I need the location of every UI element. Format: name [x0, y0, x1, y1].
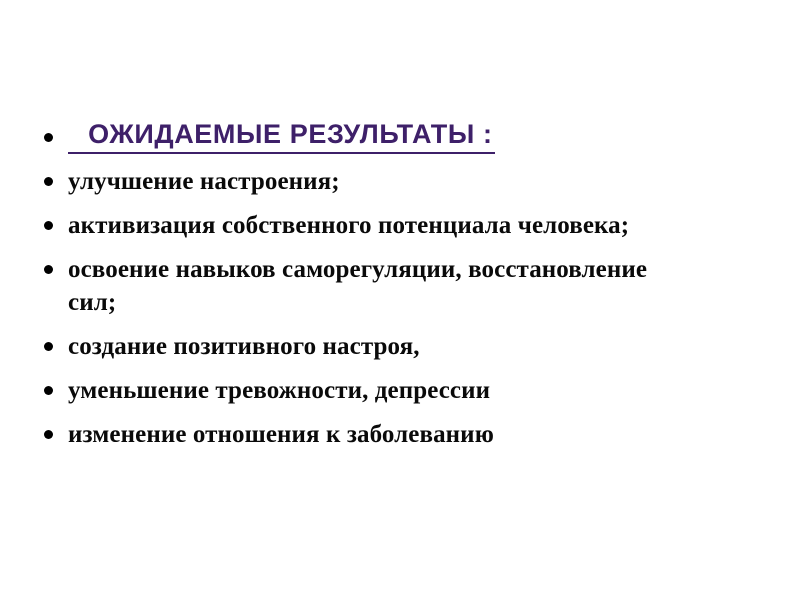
list-item-label: создание позитивного настроя, [68, 330, 668, 363]
list-item: активизация собственного потенциала чело… [0, 209, 800, 242]
slide-title: ОЖИДАЕМЫЕ РЕЗУЛЬТАТЫ : [68, 118, 495, 154]
bullet-dot-icon [44, 133, 53, 142]
list-item: освоение навыков саморегуляции, восстано… [0, 253, 800, 319]
bullet-dot-icon [44, 342, 53, 351]
bullet-list: ОЖИДАЕМЫЕ РЕЗУЛЬТАТЫ : улучшение настрое… [0, 118, 800, 451]
list-item-label: уменьшение тревожности, депрессии [68, 374, 668, 407]
bullet-dot-icon [44, 221, 53, 230]
bullet-dot-icon [44, 265, 53, 274]
list-item: уменьшение тревожности, депрессии [0, 374, 800, 407]
bullet-dot-icon [44, 430, 53, 439]
list-item-label: изменение отношения к заболеванию [68, 418, 668, 451]
list-item-label: улучшение настроения; [68, 165, 668, 198]
bullet-dot-icon [44, 177, 53, 186]
list-item: изменение отношения к заболеванию [0, 418, 800, 451]
list-item: улучшение настроения; [0, 165, 800, 198]
slide-title-item: ОЖИДАЕМЫЕ РЕЗУЛЬТАТЫ : [0, 118, 800, 154]
list-item: создание позитивного настроя, [0, 330, 800, 363]
bullet-dot-icon [44, 386, 53, 395]
list-item-label: освоение навыков саморегуляции, восстано… [68, 253, 668, 319]
slide-canvas: ОЖИДАЕМЫЕ РЕЗУЛЬТАТЫ : улучшение настрое… [0, 0, 800, 600]
list-item-label: активизация собственного потенциала чело… [68, 209, 668, 242]
